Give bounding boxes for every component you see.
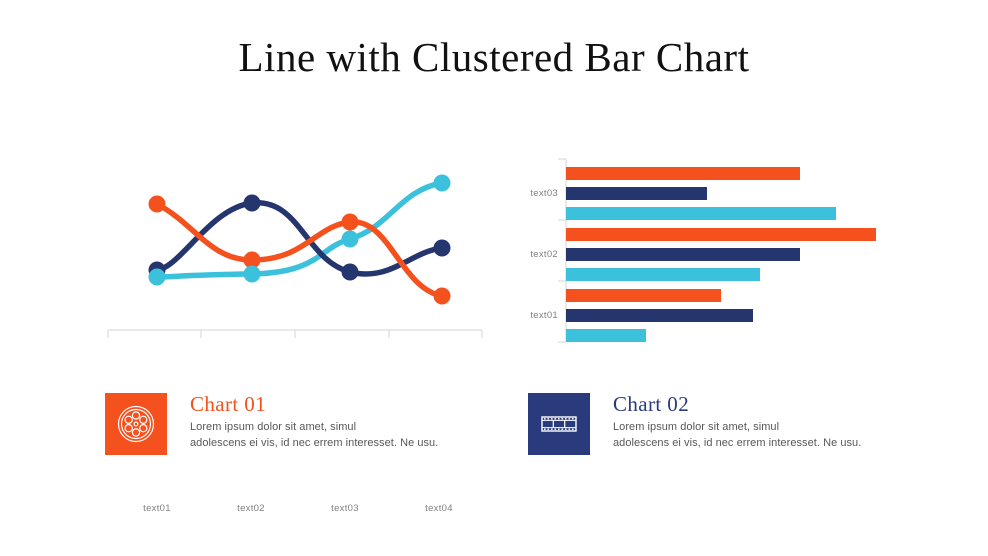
- bar-navy-text02[interactable]: [566, 248, 800, 261]
- line-chart[interactable]: text01 text02 text03 text04: [100, 160, 490, 360]
- line-chart-x-axis: [108, 330, 482, 338]
- film-strip-icon: [528, 393, 590, 455]
- page-title: Line with Clustered Bar Chart: [0, 33, 988, 81]
- line-point-cyan-text02[interactable]: [244, 266, 261, 283]
- bar-orange-text03[interactable]: [566, 167, 800, 180]
- bar-orange-text02[interactable]: [566, 228, 876, 241]
- description-text-chart-02: Chart 02 Lorem ipsum dolor sit amet, sim…: [613, 391, 898, 451]
- bar-cyan-text03[interactable]: [566, 207, 836, 220]
- description-body-line-2: adolescens ei vis, id nec errem interess…: [613, 436, 898, 452]
- bar-cyan-text01[interactable]: [566, 329, 646, 342]
- line-point-navy-text02[interactable]: [244, 195, 261, 212]
- bar-chart-ytick-text02: text02: [498, 249, 558, 260]
- film-reel-icon-glyph: [116, 404, 156, 444]
- bar-navy-text03[interactable]: [566, 187, 707, 200]
- description-text-chart-01: Chart 01 Lorem ipsum dolor sit amet, sim…: [190, 391, 475, 451]
- film-reel-icon: [105, 393, 167, 455]
- bar-chart-plot: [510, 150, 910, 360]
- line-point-navy-text03[interactable]: [342, 264, 359, 281]
- slide-canvas: Line with Clustered Bar Chart: [0, 0, 988, 556]
- line-point-orange-text03[interactable]: [342, 214, 359, 231]
- line-point-cyan-text03[interactable]: [342, 231, 359, 248]
- line-point-orange-text01[interactable]: [149, 196, 166, 213]
- line-chart-xtick-3: text04: [399, 503, 479, 514]
- description-body-line-1: Lorem ipsum dolor sit amet, simul: [613, 420, 898, 436]
- bar-navy-text01[interactable]: [566, 309, 753, 322]
- line-point-navy-text04[interactable]: [434, 240, 451, 257]
- description-body-line-1: Lorem ipsum dolor sit amet, simul: [190, 420, 475, 436]
- line-point-orange-text04[interactable]: [434, 288, 451, 305]
- line-series-orange: [157, 204, 442, 296]
- line-chart-xtick-0: text01: [117, 503, 197, 514]
- bar-chart-ytick-text03: text03: [498, 188, 558, 199]
- bar-chart-ytick-text01: text01: [498, 310, 558, 321]
- film-strip-icon-glyph: [539, 404, 579, 444]
- description-body-line-2: adolescens ei vis, id nec errem interess…: [190, 436, 475, 452]
- line-chart-xtick-2: text03: [305, 503, 385, 514]
- line-chart-plot: [100, 160, 490, 360]
- description-body-chart-02: Lorem ipsum dolor sit amet, simul adoles…: [613, 420, 898, 451]
- line-chart-xtick-1: text02: [211, 503, 291, 514]
- line-point-cyan-text04[interactable]: [434, 175, 451, 192]
- bar-chart-category-axis: [558, 159, 566, 342]
- description-body-chart-01: Lorem ipsum dolor sit amet, simul adoles…: [190, 420, 475, 451]
- clustered-bar-chart[interactable]: text03 text02 text01: [510, 150, 910, 360]
- bar-cyan-text02[interactable]: [566, 268, 760, 281]
- description-heading-chart-01: Chart 01: [190, 391, 475, 417]
- description-heading-chart-02: Chart 02: [613, 391, 898, 417]
- bar-orange-text01[interactable]: [566, 289, 721, 302]
- line-point-cyan-text01[interactable]: [149, 269, 166, 286]
